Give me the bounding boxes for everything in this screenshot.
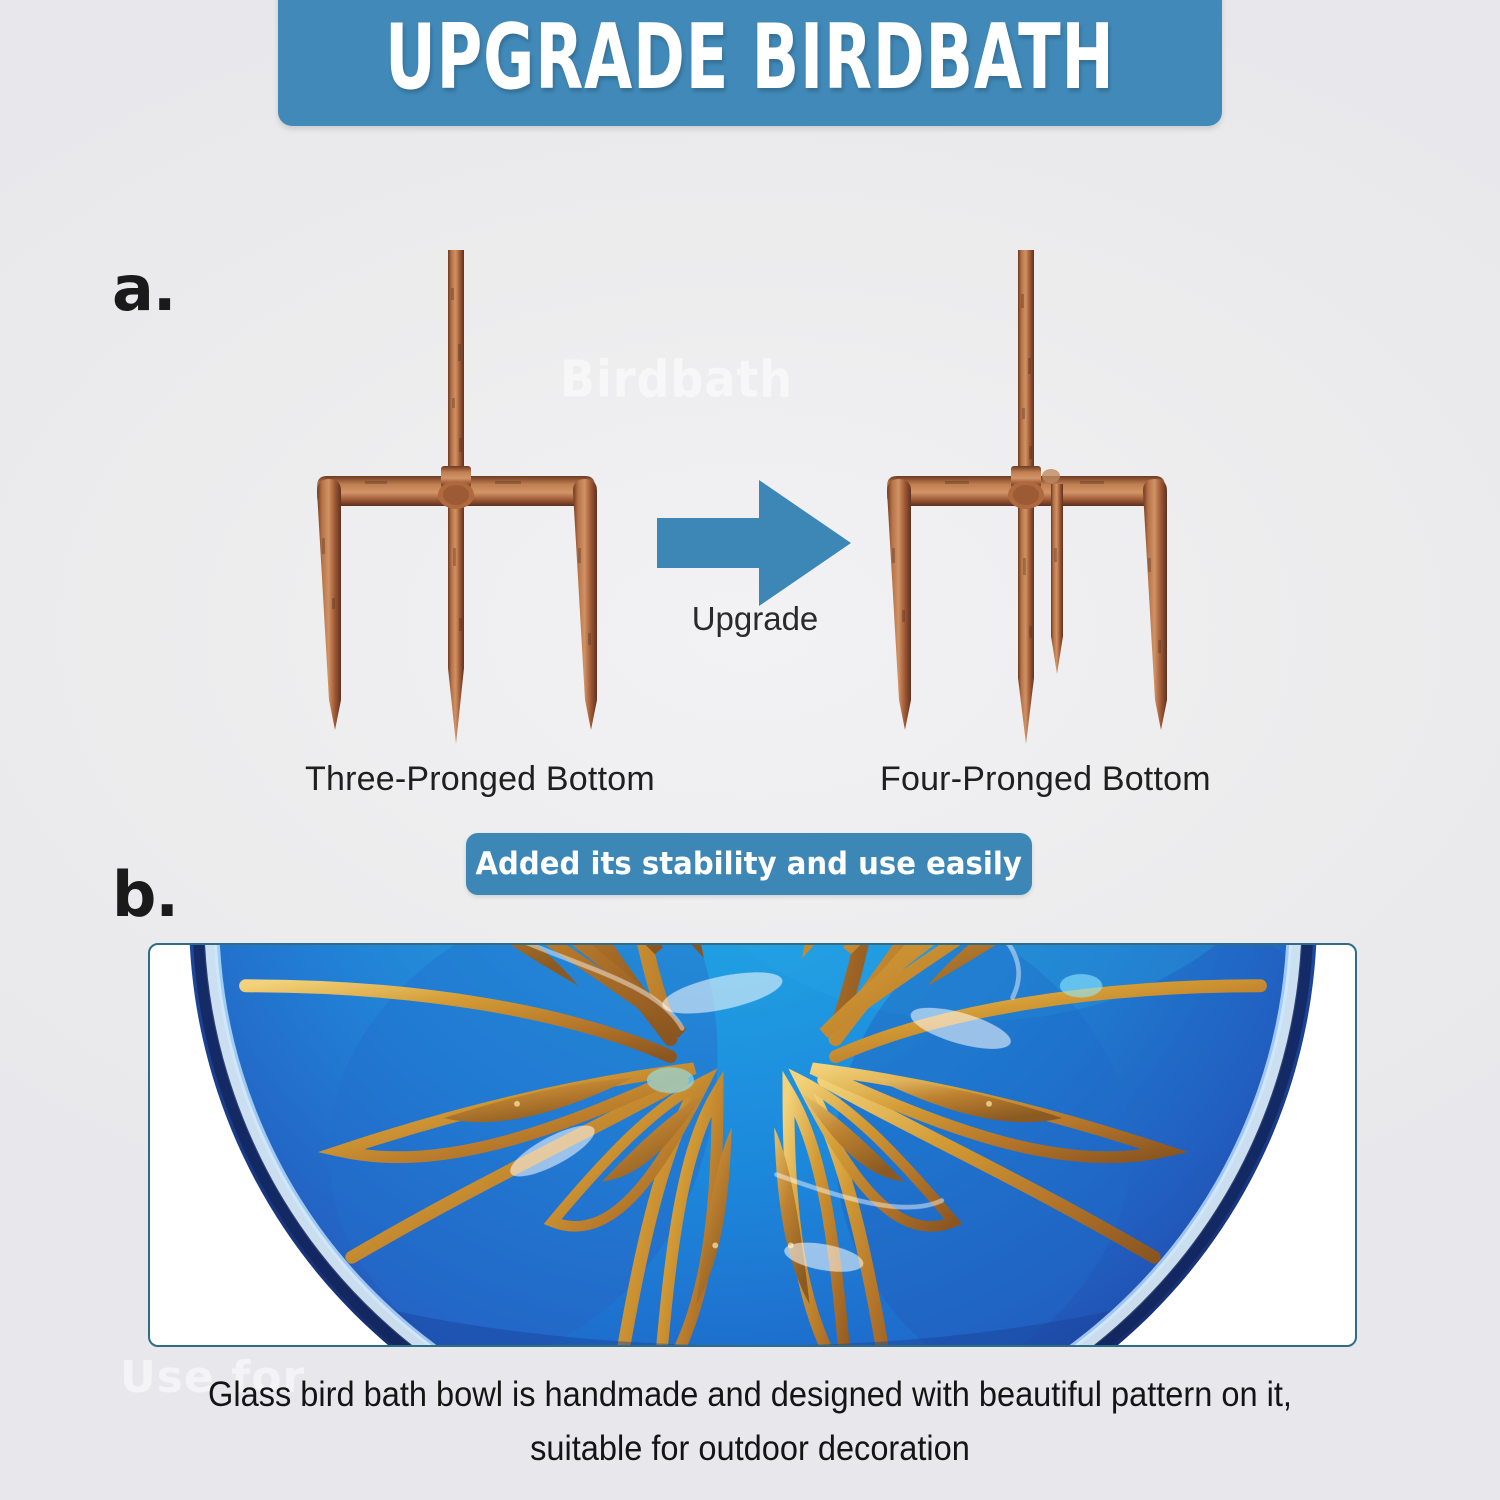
- four-pronged-label: Four-Pronged Bottom: [880, 760, 1210, 799]
- bowl-caption-line1: Glass bird bath bowl is handmade and des…: [192, 1368, 1308, 1422]
- three-pronged-label: Three-Pronged Bottom: [305, 760, 635, 799]
- glass-bowl-clip: [150, 945, 1355, 1345]
- upgrade-arrow-label: Upgrade: [640, 600, 870, 638]
- bowl-caption-line2: suitable for outdoor decoration: [192, 1422, 1308, 1476]
- stability-badge: Added its stability and use easily: [466, 833, 1032, 895]
- glass-birdbath-bowl-photo: [163, 945, 1343, 1345]
- status-badge-text: Added its stability and use easily: [476, 846, 1022, 882]
- three-pronged-stake-icon: [295, 248, 625, 748]
- glass-bowl-photo-box: [148, 943, 1357, 1347]
- title-banner: UPGRADE BIRDBATH: [278, 0, 1222, 126]
- page-background: Birdbath Use for UPGRADE BIRDBATH a. b.: [0, 0, 1500, 1500]
- four-pronged-stake-icon: [865, 248, 1195, 748]
- bowl-caption: Glass bird bath bowl is handmade and des…: [150, 1368, 1350, 1476]
- right-arrow-icon: [655, 478, 855, 608]
- page-title: UPGRADE BIRDBATH: [385, 6, 1114, 110]
- section-label-b: b.: [112, 858, 178, 931]
